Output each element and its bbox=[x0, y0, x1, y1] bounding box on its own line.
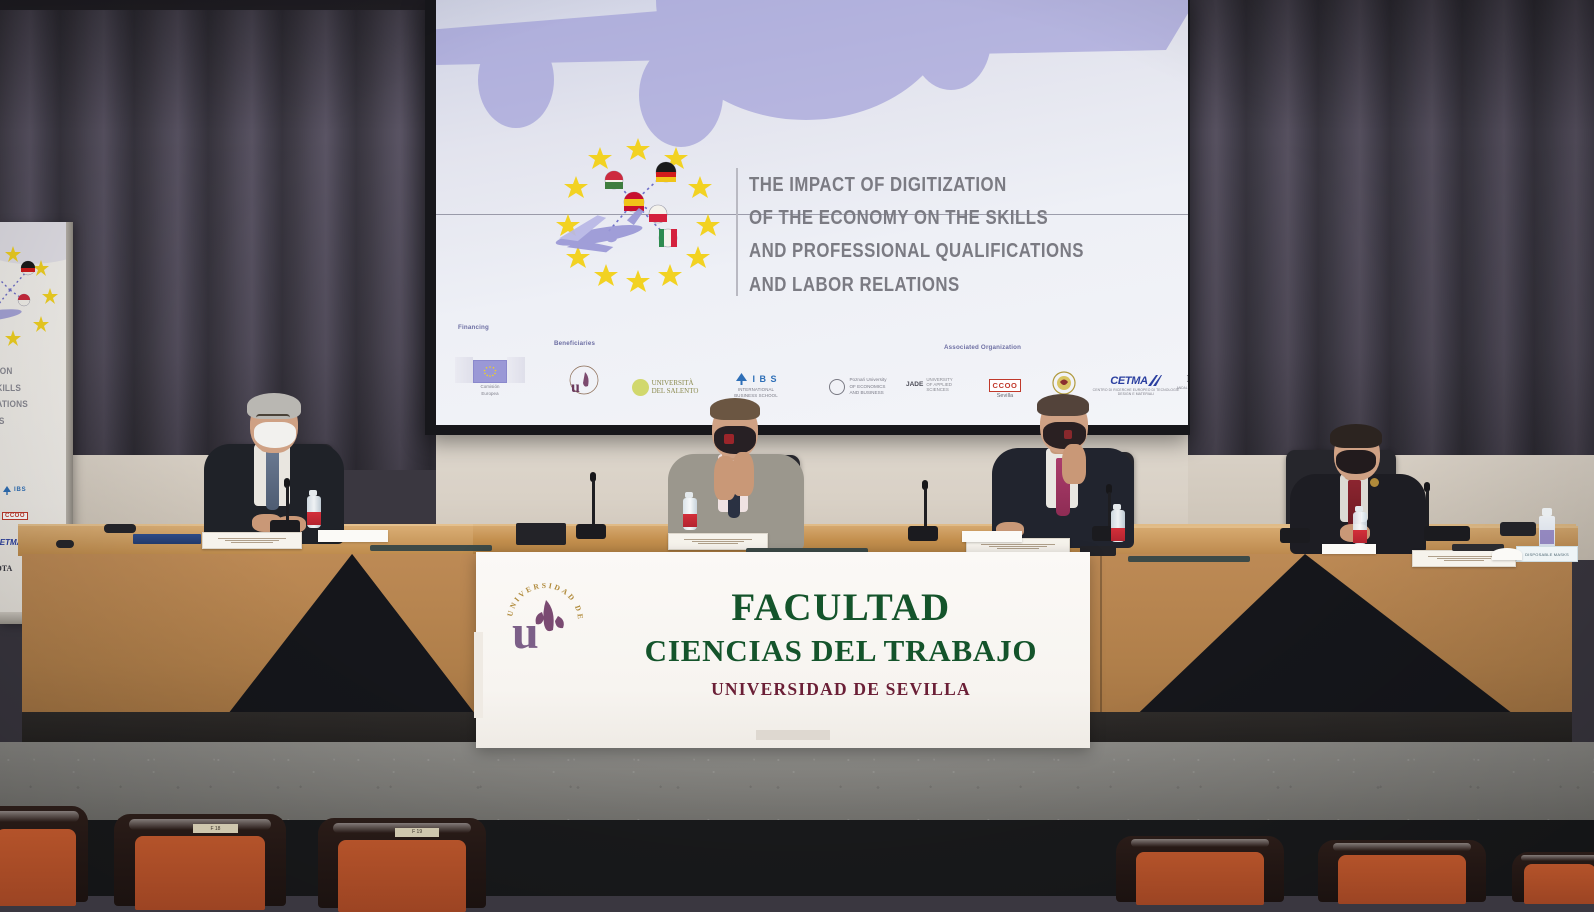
panelist-3-mask-logo-icon bbox=[1064, 430, 1072, 439]
us-seal-plant-icon bbox=[536, 600, 564, 631]
microphone-3-stem bbox=[924, 488, 927, 530]
name-placard-3-text bbox=[973, 543, 1063, 551]
water-bottle-3 bbox=[1110, 504, 1126, 552]
ec-fan-left bbox=[455, 357, 473, 383]
rollup-ibs-tree-icon bbox=[2, 486, 12, 495]
audience-seat-4[interactable] bbox=[1116, 836, 1284, 902]
rollup-title-line-3: QUALIFICATIONS bbox=[0, 397, 56, 414]
audience-seat-4-gloss bbox=[1131, 839, 1269, 847]
paper-sheet-1 bbox=[318, 530, 388, 542]
audience-seat-5[interactable] bbox=[1318, 840, 1486, 902]
front-banner-bottom-tab bbox=[756, 730, 830, 740]
cetma-swoosh-icon bbox=[1148, 375, 1162, 387]
salento-group: UNIVERSITÀDEL SALENTO bbox=[632, 379, 699, 396]
microphone-5 bbox=[1410, 482, 1444, 544]
audience-seat-6[interactable] bbox=[1512, 852, 1594, 902]
cable-tray-3 bbox=[1128, 556, 1250, 562]
microphone-2-base bbox=[576, 524, 606, 539]
front-banner: UNIVERSIDAD DE SEVILLA u FACULTAD CIENCI… bbox=[476, 552, 1090, 748]
microphone-5-stem bbox=[1426, 490, 1429, 528]
poznan-group: Poznań UniversityOF ECONOMICSAND BUSINES… bbox=[829, 377, 886, 396]
sanitizer-pump-icon bbox=[1542, 508, 1552, 516]
panelist-3-hand-raised bbox=[1062, 444, 1086, 484]
microphone-3-base bbox=[908, 526, 938, 541]
name-placard-1-text bbox=[209, 537, 295, 545]
audience-seat-5-cushion bbox=[1338, 855, 1466, 905]
jade-wordmark: JADE bbox=[906, 381, 923, 388]
logo-poznan-university: Poznań UniversityOF ECONOMICSAND BUSINES… bbox=[808, 356, 908, 396]
ibs-caption: INTERNATIONALBUSINESS SCHOOL bbox=[734, 387, 777, 398]
crest-emblem-icon bbox=[1051, 370, 1077, 396]
logo-cetma: CETMA CENTRO DI RICERCHE EUROPEO DI TECN… bbox=[1090, 362, 1182, 396]
ec-caption-2: Europea bbox=[481, 391, 498, 397]
slide-title-divider bbox=[736, 168, 738, 296]
label-associated-organization: Associated Organization bbox=[944, 344, 1021, 351]
poznan-wordmark: Poznań UniversityOF ECONOMICSAND BUSINES… bbox=[849, 377, 886, 396]
logo-crest bbox=[1044, 360, 1084, 396]
us-seal-logo-icon: UNIVERSIDAD DE SEVILLA u bbox=[502, 578, 588, 664]
dta-caption: ANDALUSIAN AEROSPACE CLUSTER bbox=[1174, 386, 1188, 394]
logo-dta: DTA ANDALUSIAN AEROSPACE CLUSTER bbox=[1174, 362, 1188, 394]
microphone-5-base bbox=[1424, 526, 1470, 541]
panelist-2-hand-right bbox=[732, 452, 754, 496]
front-banner-line-2: CIENCIAS DEL TRABAJO bbox=[596, 631, 1086, 671]
rollup-title-line-2: ON THE SKILLS bbox=[0, 381, 56, 398]
jade-group: JADE UNIVERSITYOF APPLIED SCIENCES bbox=[906, 377, 970, 392]
slide-title: THE IMPACT OF DIGITIZATION OF THE ECONOM… bbox=[749, 168, 1093, 301]
rollup-title-line-1: DIGITIZATION bbox=[0, 364, 56, 381]
microphone-6 bbox=[1280, 516, 1314, 546]
audience-seat-6-gloss bbox=[1521, 855, 1594, 861]
dta-wordmark: DTA bbox=[1187, 373, 1188, 385]
microphone-3 bbox=[906, 480, 940, 544]
logo-jade: JADE UNIVERSITYOF APPLIED SCIENCES bbox=[906, 364, 970, 392]
water-bottle-4-label bbox=[1353, 530, 1367, 543]
front-banner-line-3: UNIVERSIDAD DE SEVILLA bbox=[596, 679, 1086, 700]
jade-subtext: UNIVERSITYOF APPLIED SCIENCES bbox=[926, 377, 970, 392]
audience-seat-4-cushion bbox=[1136, 852, 1264, 905]
rollup-title: DIGITIZATION ON THE SKILLS QUALIFICATION… bbox=[0, 364, 56, 430]
front-banner-text: FACULTAD CIENCIAS DEL TRABAJO UNIVERSIDA… bbox=[596, 588, 1086, 700]
audience-seat-1-cushion bbox=[0, 829, 76, 906]
water-bottle-2-label bbox=[683, 514, 697, 527]
water-bottle-3-label bbox=[1111, 528, 1125, 541]
ec-flag-icon bbox=[473, 360, 507, 383]
ec-caption-1: Comisión bbox=[480, 384, 499, 390]
slide-title-line-3: AND PROFESSIONAL QUALIFICATIONS bbox=[749, 234, 1093, 267]
eu-stars-icon bbox=[479, 364, 501, 379]
label-beneficiaries: Beneficiaries bbox=[554, 340, 595, 347]
panelist-1-glasses-icon bbox=[256, 414, 290, 421]
logo-european-commission: Comisión Europea bbox=[452, 350, 528, 396]
conference-room-scene: THE IMPACT OF DIGITIZATION OF THE ECONOM… bbox=[0, 0, 1594, 896]
panelist-1-face-mask bbox=[254, 422, 296, 448]
remote-control bbox=[104, 524, 136, 533]
panelist-4-face-mask bbox=[1336, 450, 1376, 474]
desk-device-right bbox=[1500, 522, 1536, 536]
audience-seat-3-number: F 19 bbox=[395, 828, 439, 837]
water-bottle-1-label bbox=[307, 512, 321, 525]
disposable-mask-box: DISPOSABLE MASKS bbox=[1516, 546, 1578, 562]
rollup-logo-ibs: IBS bbox=[0, 477, 72, 503]
microphone-6-base bbox=[1280, 528, 1310, 543]
label-financing: Financing bbox=[458, 324, 489, 331]
name-placard-2-text bbox=[675, 538, 761, 546]
microphone-2-stem bbox=[592, 480, 595, 528]
svg-text:u: u bbox=[571, 379, 580, 396]
audience-seat-5-gloss bbox=[1333, 843, 1471, 850]
av-control-box bbox=[516, 523, 566, 545]
audience-seat-1-gloss bbox=[0, 811, 79, 823]
audience-seat-3[interactable]: F 19 bbox=[318, 818, 486, 908]
us-seal-u-glyph: u bbox=[512, 606, 539, 659]
slide-title-line-2: OF THE ECONOMY ON THE SKILLS bbox=[749, 201, 1093, 234]
ibs-wordmark: I B S bbox=[752, 374, 777, 384]
cetma-wordmark: CETMA bbox=[1110, 375, 1148, 387]
audience-seat-6-cushion bbox=[1524, 864, 1594, 904]
audience-seat-2[interactable]: F 18 bbox=[114, 814, 286, 906]
audience-seat-1[interactable] bbox=[0, 806, 88, 902]
sanitizer-label bbox=[1540, 530, 1554, 544]
cetma-group: CETMA bbox=[1110, 375, 1162, 387]
cable-tray-1 bbox=[370, 545, 492, 551]
logo-ibs: I B S INTERNATIONALBUSINESS SCHOOL bbox=[714, 356, 798, 398]
salento-emblem-icon bbox=[632, 379, 649, 396]
blue-folder bbox=[133, 534, 201, 544]
microphone-2 bbox=[576, 472, 610, 542]
panelist-2-mask-logo-icon bbox=[724, 434, 734, 444]
paper-sheet-3 bbox=[1322, 544, 1376, 554]
logo-universidad-de-sevilla: u bbox=[554, 358, 614, 398]
audience-seat-2-number: F 18 bbox=[193, 824, 238, 833]
panelist-3-hair bbox=[1037, 394, 1089, 416]
slide-title-line-4: AND LABOR RELATIONS bbox=[749, 268, 1093, 301]
panelist-2-face-mask bbox=[714, 426, 756, 454]
panelist-4-lapel-pin-icon bbox=[1370, 478, 1379, 487]
paper-sheet-2 bbox=[962, 531, 1022, 542]
microphone-1-stem bbox=[286, 486, 289, 522]
tissue-stack bbox=[1492, 548, 1522, 560]
ccoo-wordmark: CCOO bbox=[989, 379, 1022, 392]
mask-box-label: DISPOSABLE MASKS bbox=[1525, 552, 1569, 557]
slide-title-line-1: THE IMPACT OF DIGITIZATION bbox=[749, 168, 1093, 201]
microphone-1 bbox=[268, 478, 302, 538]
us-seal-icon: u bbox=[563, 364, 605, 398]
poznan-seal-icon bbox=[829, 379, 845, 395]
projection-screen: THE IMPACT OF DIGITIZATION OF THE ECONOM… bbox=[436, 0, 1188, 425]
front-banner-side-tab bbox=[474, 632, 483, 718]
panelist-2-hair bbox=[710, 398, 760, 420]
front-banner-line-1: FACULTAD bbox=[596, 588, 1086, 627]
airplane-silhouette-icon bbox=[436, 0, 1188, 150]
panelist-4-hair bbox=[1330, 424, 1382, 448]
ibs-group: I B S bbox=[734, 372, 777, 386]
small-device bbox=[56, 540, 74, 548]
ec-fan-right bbox=[507, 357, 525, 383]
rollup-ibs-wordmark: IBS bbox=[14, 487, 26, 493]
project-eu-logo-icon bbox=[546, 130, 731, 295]
audience-seat-3-cushion bbox=[338, 840, 466, 912]
rollup-ccoo-wordmark: CCOO bbox=[2, 512, 28, 520]
audience-seat-2-cushion bbox=[135, 836, 266, 910]
logo-universita-del-salento: UNIVERSITÀDEL SALENTO bbox=[622, 360, 708, 396]
salento-wordmark: UNIVERSITÀDEL SALENTO bbox=[652, 380, 699, 395]
name-placard-1 bbox=[202, 532, 302, 549]
rollup-eu-logo-icon bbox=[0, 242, 68, 352]
ec-logo-group bbox=[455, 357, 525, 383]
ibs-tree-icon bbox=[734, 372, 749, 386]
rollup-title-line-4: RELATIONS bbox=[0, 414, 56, 431]
